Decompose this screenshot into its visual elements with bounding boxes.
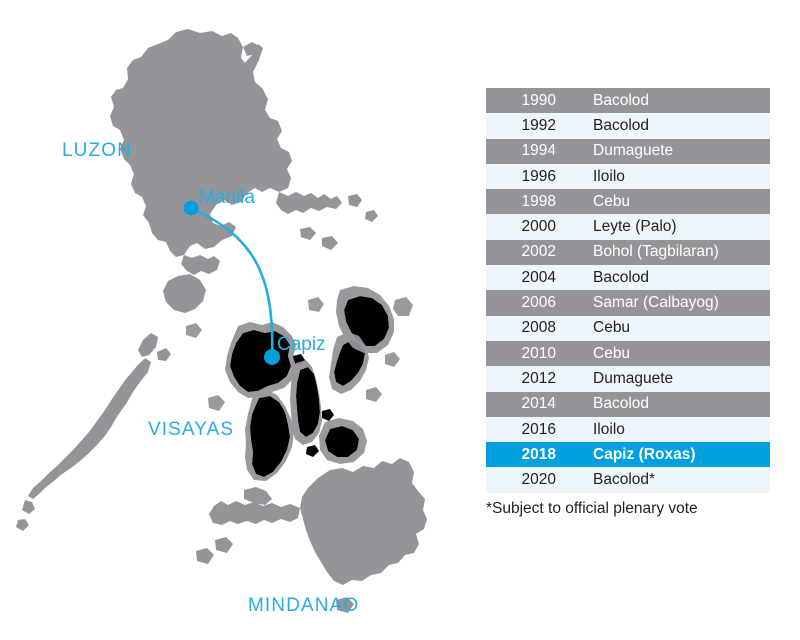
map-svg xyxy=(0,0,470,640)
row-year: 1996 xyxy=(486,168,556,186)
row-city: Dumaguete xyxy=(556,370,770,388)
philippines-map: LUZON VISAYAS MINDANAO Manila Capiz xyxy=(0,0,470,640)
row-year: 1990 xyxy=(486,92,556,110)
row-year: 2012 xyxy=(486,370,556,388)
row-city: Cebu xyxy=(556,319,770,337)
landmass-mindoro xyxy=(163,274,206,313)
table-row[interactable]: 1998Cebu xyxy=(486,189,770,214)
row-year: 2006 xyxy=(486,294,556,312)
row-city: Bacolod xyxy=(556,117,770,135)
landmass-mindanao xyxy=(196,458,427,613)
map-label-visayas: VISAYAS xyxy=(148,419,234,441)
row-city: Bohol (Tagbilaran) xyxy=(556,243,770,261)
row-city: Bacolod xyxy=(556,395,770,413)
row-year: 2008 xyxy=(486,319,556,337)
table-row[interactable]: 2020Bacolod* xyxy=(486,467,770,492)
row-year: 1998 xyxy=(486,193,556,211)
row-year: 1992 xyxy=(486,117,556,135)
map-label-capiz: Capiz xyxy=(277,334,326,356)
table-row[interactable]: 2014Bacolod xyxy=(486,392,770,417)
table-row[interactable]: 2016Iloilo xyxy=(486,417,770,442)
row-city: Bacolod xyxy=(556,92,770,110)
row-year: 2020 xyxy=(486,471,556,489)
table-row[interactable]: 1990Bacolod xyxy=(486,88,770,113)
row-city: Iloilo xyxy=(556,421,770,439)
row-city: Samar (Calbayog) xyxy=(556,294,770,312)
map-label-manila: Manila xyxy=(199,187,255,209)
marker-manila[interactable] xyxy=(184,201,199,216)
table-row[interactable]: 2018Capiz (Roxas) xyxy=(486,442,770,467)
landmass-luzon xyxy=(110,29,342,257)
row-city: Leyte (Palo) xyxy=(556,218,770,236)
table-row[interactable]: 2006Samar (Calbayog) xyxy=(486,290,770,315)
table-row[interactable]: 2002Bohol (Tagbilaran) xyxy=(486,240,770,265)
row-year: 2018 xyxy=(486,446,556,464)
row-city: Bacolod xyxy=(556,269,770,287)
row-year: 2000 xyxy=(486,218,556,236)
row-city: Bacolod* xyxy=(556,471,770,489)
host-city-table: 1990Bacolod1992Bacolod1994Dumaguete1996I… xyxy=(486,88,770,493)
map-label-mindanao: MINDANAO xyxy=(248,595,359,617)
row-city: Capiz (Roxas) xyxy=(556,446,770,464)
table-row[interactable]: 1996Iloilo xyxy=(486,164,770,189)
map-label-luzon: LUZON xyxy=(62,140,132,162)
row-year: 2004 xyxy=(486,269,556,287)
row-year: 2010 xyxy=(486,345,556,363)
table-row[interactable]: 2012Dumaguete xyxy=(486,366,770,391)
row-year: 2014 xyxy=(486,395,556,413)
table-footnote: *Subject to official plenary vote xyxy=(486,500,698,518)
table-row[interactable]: 1994Dumaguete xyxy=(486,139,770,164)
row-year: 1994 xyxy=(486,142,556,160)
row-year: 2016 xyxy=(486,421,556,439)
row-city: Cebu xyxy=(556,345,770,363)
table-row[interactable]: 2010Cebu xyxy=(486,341,770,366)
table-row[interactable]: 2008Cebu xyxy=(486,316,770,341)
row-city: Dumaguete xyxy=(556,142,770,160)
row-year: 2002 xyxy=(486,243,556,261)
table-row[interactable]: 2004Bacolod xyxy=(486,265,770,290)
row-city: Iloilo xyxy=(556,168,770,186)
row-city: Cebu xyxy=(556,193,770,211)
landmass-southern-luzon xyxy=(181,255,220,275)
table-row[interactable]: 1992Bacolod xyxy=(486,113,770,138)
table-row[interactable]: 2000Leyte (Palo) xyxy=(486,214,770,239)
